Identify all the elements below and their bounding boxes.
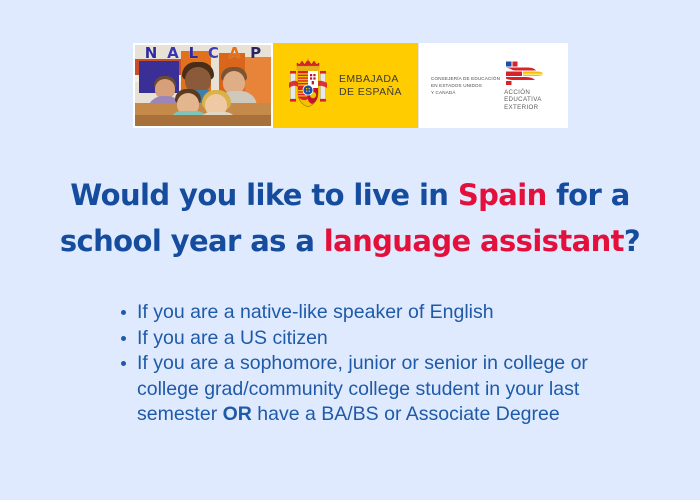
headline-text: for a bbox=[547, 178, 630, 212]
nalcap-wordmark: N A L C A P bbox=[135, 45, 271, 63]
aee-line1: ACCIÓN bbox=[504, 89, 542, 97]
consejeria-de-educacion-text: CONSEJERÍA DE EDUCACIÓN EN ESTADOS UNIDO… bbox=[431, 75, 500, 96]
nalcap-illustration: N A L C A P bbox=[135, 45, 271, 126]
eligibility-requirements-list: If you are a native-like speaker of Engl… bbox=[118, 300, 638, 428]
spain-flag-e-mark-icon bbox=[504, 60, 548, 86]
header-logo-banner: N A L C A P bbox=[133, 43, 567, 128]
requirement-text: have a BA/BS or Associate Degree bbox=[252, 403, 560, 425]
nalcap-letter: L bbox=[189, 45, 199, 61]
embajada-line2: DE ESPAÑA bbox=[339, 86, 402, 99]
headline-line-1: Would you like to live in Spain for a bbox=[0, 172, 700, 218]
nalcap-letter: N bbox=[145, 45, 158, 61]
embajada-de-espana-logo: EMBAJADA DE ESPAÑA bbox=[273, 43, 418, 128]
headline-accent-language-assistant: language assistant bbox=[324, 224, 624, 258]
nalcap-letter: P bbox=[250, 45, 261, 61]
accion-educativa-wordmark: ACCIÓN EDUCATIVA EXTERIOR bbox=[504, 89, 542, 112]
headline-line-2: school year as a language assistant? bbox=[0, 218, 700, 264]
nalcap-letter: A bbox=[229, 45, 241, 61]
embajada-wordmark: EMBAJADA DE ESPAÑA bbox=[339, 73, 402, 98]
list-item: If you are a native-like speaker of Engl… bbox=[118, 300, 638, 326]
consejeria-logo-panel: CONSEJERÍA DE EDUCACIÓN EN ESTADOS UNIDO… bbox=[418, 43, 568, 128]
list-item: If you are a US citizen bbox=[118, 326, 638, 352]
accion-educativa-exterior-logo: ACCIÓN EDUCATIVA EXTERIOR bbox=[504, 60, 560, 112]
poster-headline: Would you like to live in Spain for a sc… bbox=[0, 172, 700, 264]
consejeria-line3: Y CANADÁ bbox=[431, 89, 500, 96]
nalcap-letter: C bbox=[208, 45, 219, 61]
headline-text: school year as a bbox=[60, 224, 324, 258]
nalcap-letter: A bbox=[167, 45, 179, 61]
aee-line3: EXTERIOR bbox=[504, 104, 542, 112]
nalcap-logo: N A L C A P bbox=[133, 43, 273, 128]
requirement-text: If you are a US citizen bbox=[137, 327, 328, 349]
aee-line2: EDUCATIVA bbox=[504, 96, 542, 104]
consejeria-line2: EN ESTADOS UNIDOS bbox=[431, 82, 500, 89]
consejeria-line1: CONSEJERÍA DE EDUCACIÓN bbox=[431, 75, 500, 82]
requirement-text: If you are a native-like speaker of Engl… bbox=[137, 301, 494, 323]
headline-text: Would you like to live in bbox=[70, 178, 458, 212]
embajada-line1: EMBAJADA bbox=[339, 73, 402, 86]
headline-text: ? bbox=[624, 224, 640, 258]
headline-accent-spain: Spain bbox=[458, 178, 547, 212]
spain-coat-of-arms-icon bbox=[287, 57, 329, 115]
list-item: If you are a sophomore, junior or senior… bbox=[118, 351, 638, 428]
requirement-emphasis-or: OR bbox=[223, 403, 252, 425]
